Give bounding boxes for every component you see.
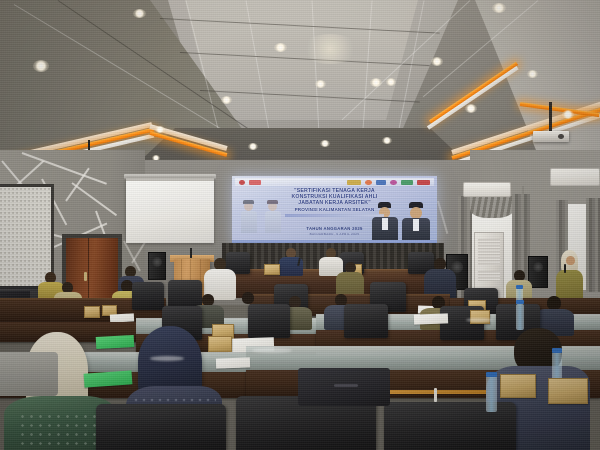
curtain-valance (470, 196, 514, 218)
downlight (527, 70, 538, 78)
bottle-cap (516, 285, 523, 289)
downlight (465, 104, 477, 113)
downlight (155, 126, 165, 133)
shoulder-bag (0, 352, 58, 396)
banner-title: "SERTIFIKASI TENAGA KERJA KONSTRUKSI KUA… (240, 188, 429, 213)
bottle-cap (486, 372, 497, 377)
speaker-cone (533, 262, 543, 272)
speaker-cone (152, 257, 162, 267)
window-curtain (586, 198, 600, 292)
presenter-microphone (564, 264, 566, 273)
projector-lens (558, 134, 564, 139)
projected-banner: "SERTIFIKASI TENAGA KERJA KONSTRUKSI KUA… (232, 176, 437, 246)
banner-logo (417, 180, 430, 185)
downlight-glow (300, 34, 360, 64)
banner-logo (365, 180, 372, 185)
head-table-person-navy (278, 248, 304, 276)
banner-year: TAHUN ANGGARAN 2025 (240, 226, 429, 231)
banner-logo-row (235, 178, 434, 186)
downlight (320, 140, 330, 147)
chair[interactable] (132, 282, 164, 310)
snack-box (264, 264, 280, 275)
projection-screen-blank[interactable] (126, 178, 214, 243)
downlight (221, 96, 232, 104)
downlight (386, 78, 396, 86)
banner-logo (265, 180, 343, 185)
glass-glare (466, 318, 492, 322)
ac-vent (478, 271, 500, 281)
bag-handle (334, 384, 358, 387)
banner-logo (376, 180, 386, 185)
glass-glare (150, 356, 184, 361)
chair[interactable] (248, 304, 290, 338)
glass-glare (252, 348, 292, 353)
document (216, 357, 250, 368)
banner-date: BANJARBARU, 9 APRIL 2025 (240, 232, 429, 236)
pen (434, 388, 437, 402)
banner-logo (401, 180, 413, 185)
snack-box (500, 374, 536, 398)
banner-logo (249, 180, 261, 185)
banner-logo (390, 180, 397, 185)
chair-foreground[interactable] (96, 404, 226, 450)
banner-logo (347, 180, 361, 185)
downlight (33, 60, 49, 72)
person-head (547, 296, 561, 310)
banner-subtitle: PROVINSI KALIMANTAN SELATAN (240, 207, 429, 213)
ac-pipe (522, 186, 524, 218)
person-batik-pattern (18, 412, 102, 450)
seminar-room-photo: "SERTIFIKASI TENAGA KERJA KONSTRUKSI KUA… (0, 0, 600, 450)
presenter-face (566, 256, 575, 265)
laptop-bag (298, 368, 390, 406)
bottle-cap (552, 348, 562, 353)
water-bottle (516, 304, 524, 330)
chair[interactable] (344, 304, 388, 338)
downlight (370, 78, 382, 87)
downlight (431, 57, 443, 66)
podium-microphone (190, 248, 192, 258)
downlight (315, 80, 326, 88)
banner-logo (239, 180, 245, 185)
projector-pole (549, 102, 552, 132)
bottle-cap (516, 300, 524, 304)
downlight (274, 43, 287, 52)
document (414, 313, 448, 324)
speaker-cabinet (148, 252, 166, 280)
downlight (133, 9, 146, 18)
ac-vent (478, 239, 500, 265)
banner-divider (285, 214, 383, 217)
water-bottle (486, 376, 497, 412)
downlight (562, 110, 574, 119)
snack-box (548, 378, 588, 404)
downlight (492, 3, 506, 13)
downlight (248, 143, 258, 150)
downlight (382, 137, 392, 144)
door-handle[interactable] (84, 272, 87, 281)
snack-box (84, 306, 100, 318)
wall-mounted-ac (463, 182, 511, 197)
wall-mounted-ac (550, 168, 600, 186)
